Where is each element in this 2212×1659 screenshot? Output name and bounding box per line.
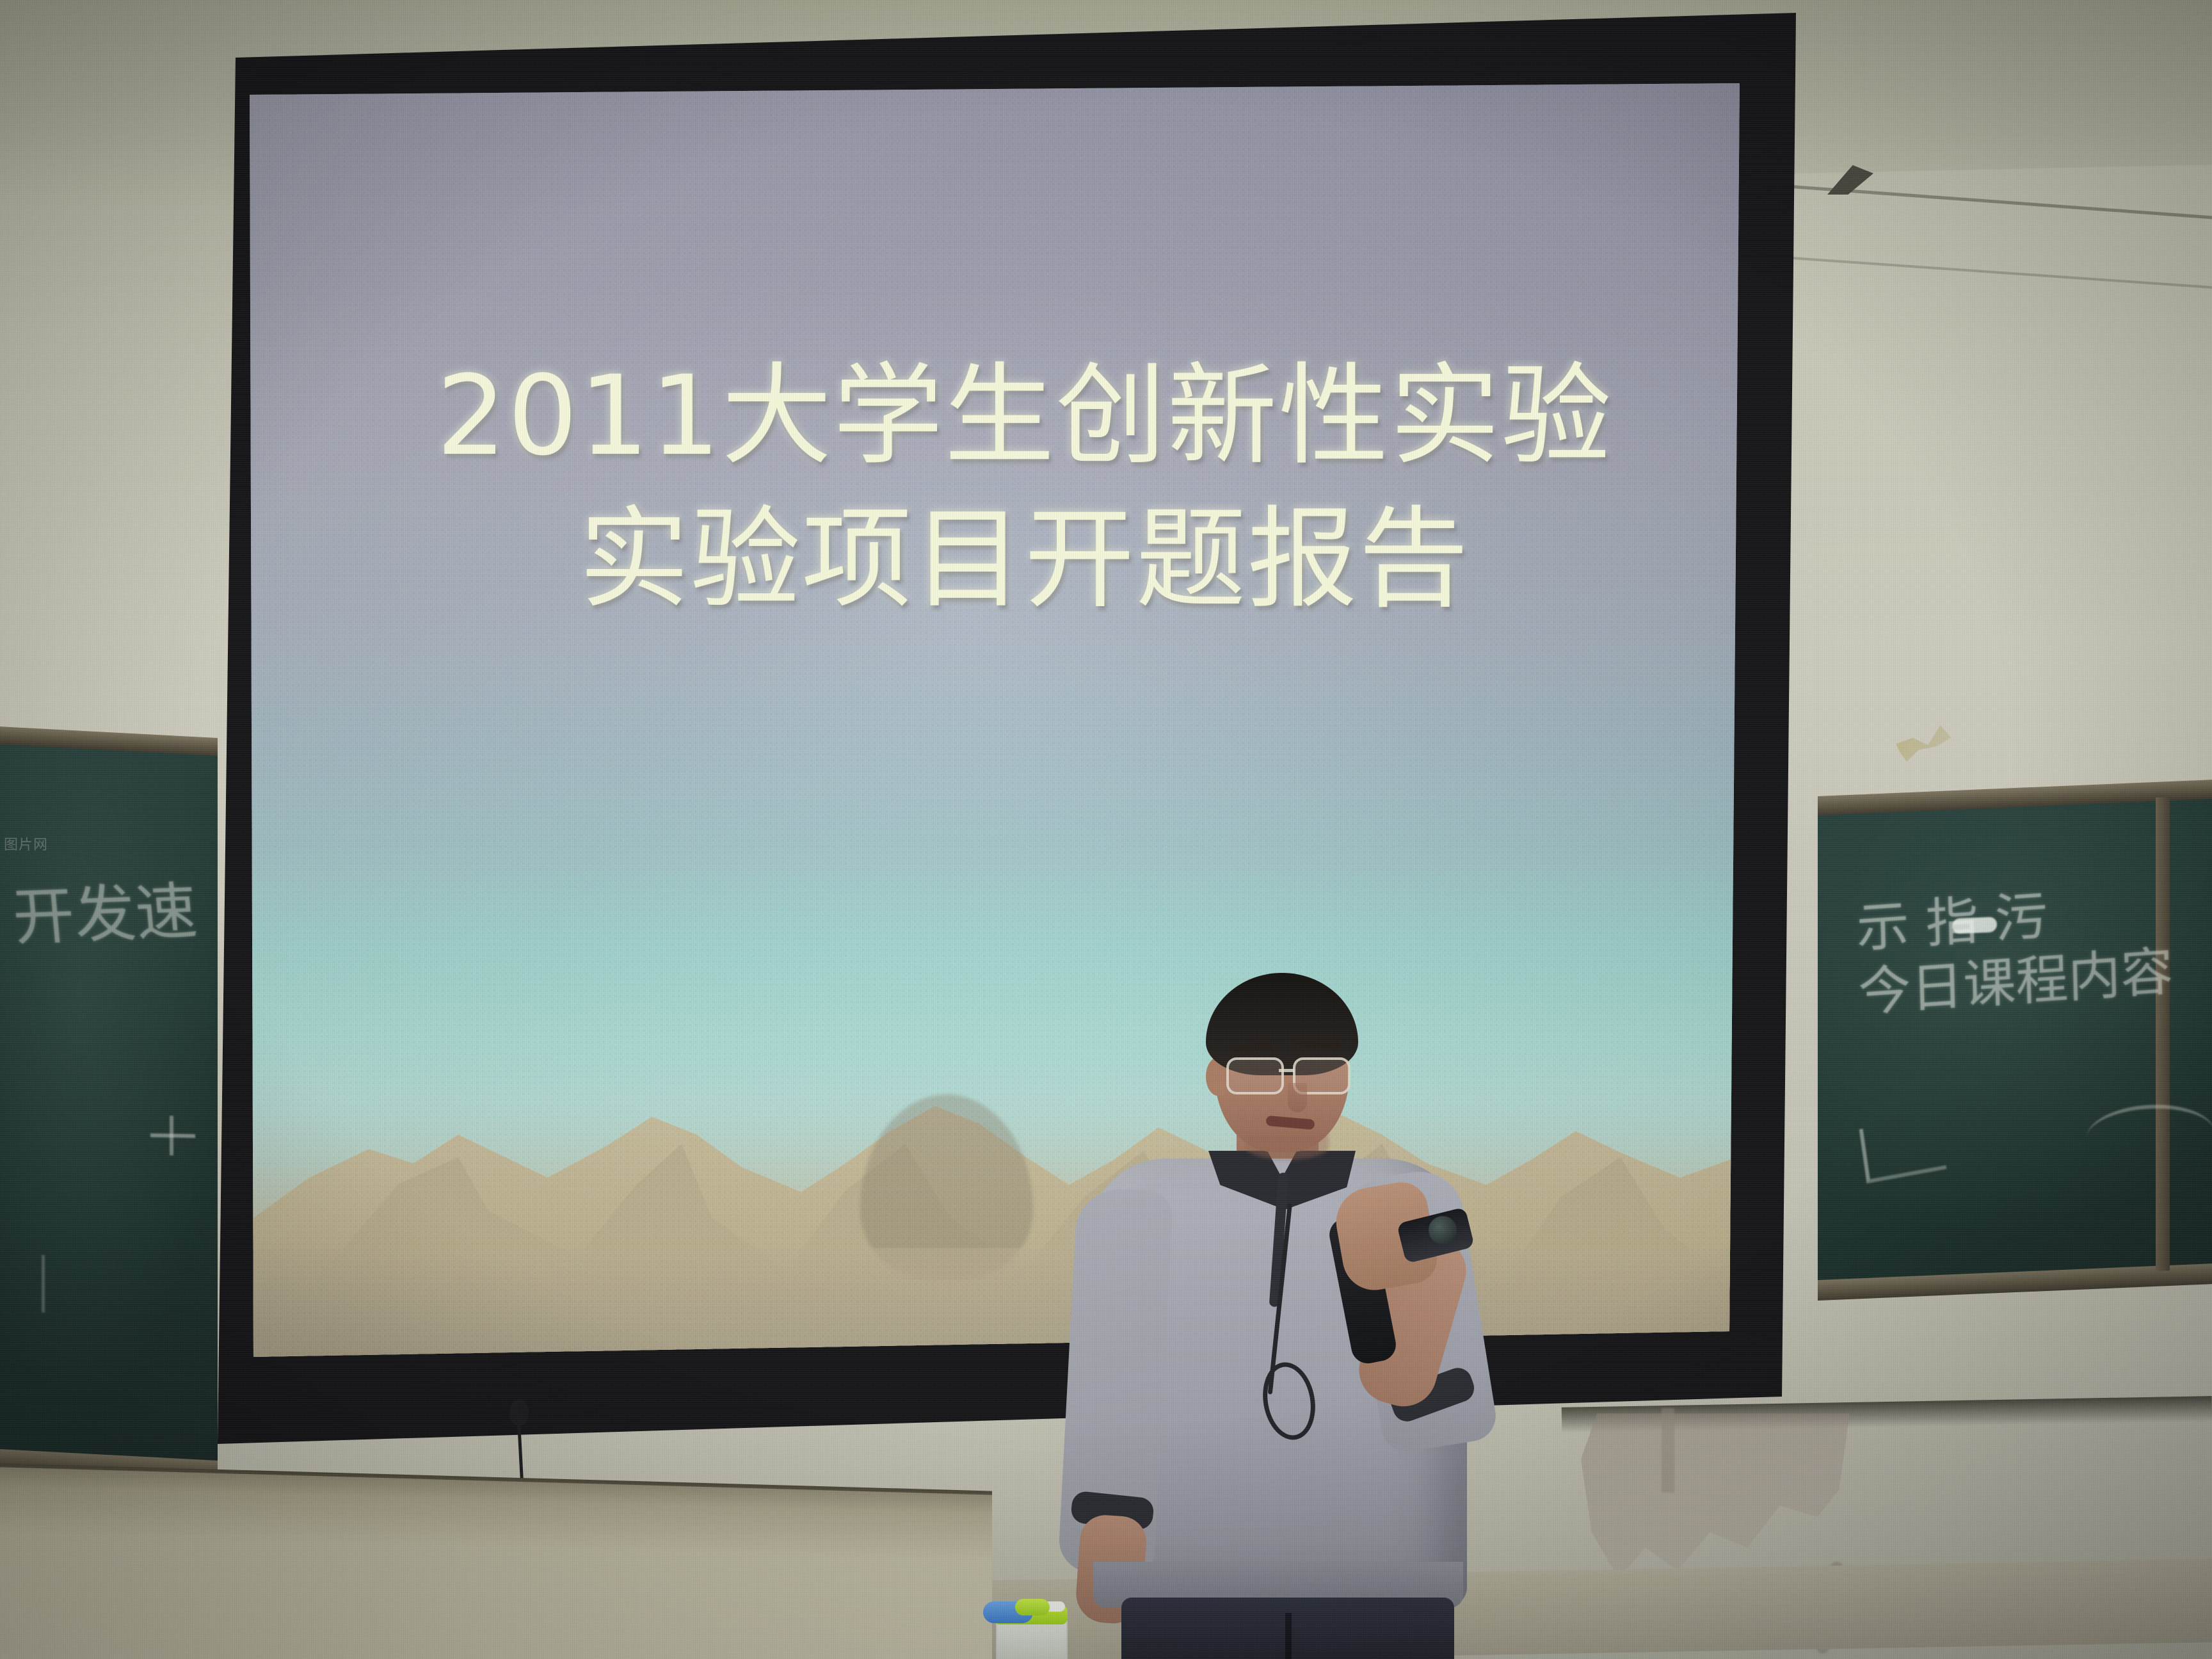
presenter-trousers-seam bbox=[1285, 1613, 1292, 1659]
classroom-presentation-photo: 开发速 示 指 污 今日课程内容 2011大学生创新性实验实验项目开题报 bbox=[0, 0, 2212, 1659]
presenter bbox=[1062, 947, 1549, 1659]
desk-ledge bbox=[0, 1467, 992, 1659]
slide-title: 2011大学生创新性实验实验项目开题报告 bbox=[384, 344, 1665, 630]
watermark: 图片网 bbox=[4, 833, 48, 854]
right-blackboard-chalk-text: 示 指 污 今日课程内容 bbox=[1855, 876, 2174, 1025]
projection-screen: 2011大学生创新性实验实验项目开题报告 bbox=[218, 13, 1799, 1447]
glasses-lens-left bbox=[1226, 1057, 1284, 1094]
right-blackboard-chalk-mark bbox=[1952, 917, 1997, 934]
left-blackboard-chalk-smudge bbox=[42, 1255, 45, 1313]
right-blackboard-frame-edge bbox=[2156, 797, 2170, 1271]
right-blackboard-surface bbox=[1818, 792, 2212, 1285]
presenter-chin-shadow bbox=[1246, 1134, 1329, 1160]
right-blackboard: 示 指 污 今日课程内容 bbox=[1818, 792, 2212, 1285]
left-blackboard-chalk-text: 开发速 bbox=[10, 878, 200, 953]
glasses-bridge bbox=[1279, 1069, 1294, 1072]
left-blackboard-chalk-mark bbox=[170, 1116, 173, 1155]
water-bottle-lid-accent bbox=[1015, 1599, 1050, 1615]
presenter-nose bbox=[1288, 1083, 1307, 1112]
